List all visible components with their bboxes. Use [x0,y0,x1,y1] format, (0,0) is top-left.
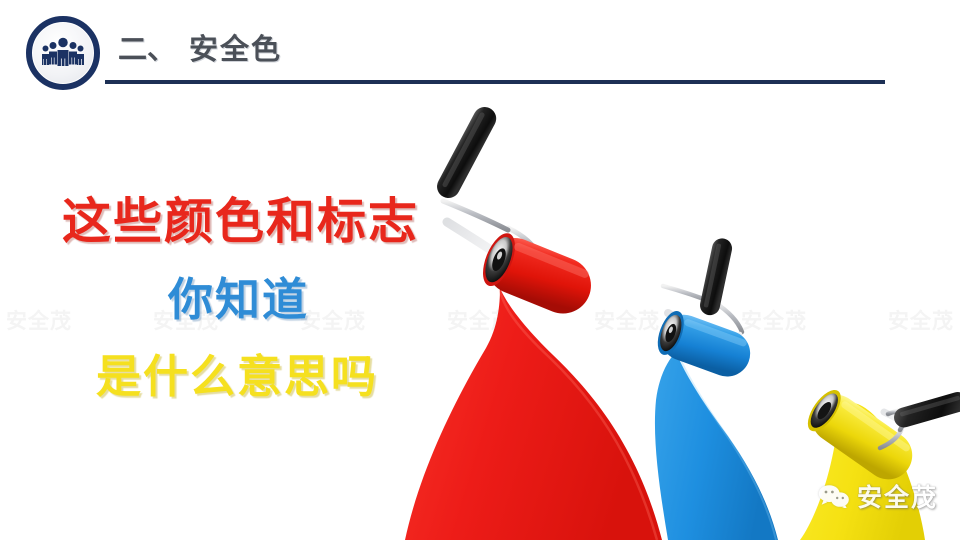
logo-badge [26,16,100,90]
headline-line-red: 这些颜色和标志 [0,196,470,250]
group-of-people-icon [39,33,87,73]
section-title: 安全色 [189,26,282,68]
headline-line-blue: 你知道 [0,275,470,325]
section-number: 二、 [118,26,176,68]
header-divider [105,80,885,84]
headline-block: 这些颜色和标志 你知道 是什么意思吗 [0,196,470,402]
slide-canvas: 安全茂 安全茂 安全茂 安全茂 安全茂 安全茂 安全茂 [0,0,960,540]
page-title: 二、 安全色 [118,26,282,68]
headline-line-yellow: 是什么意思吗 [0,352,470,402]
slide-header: 二、 安全色 [0,0,960,96]
